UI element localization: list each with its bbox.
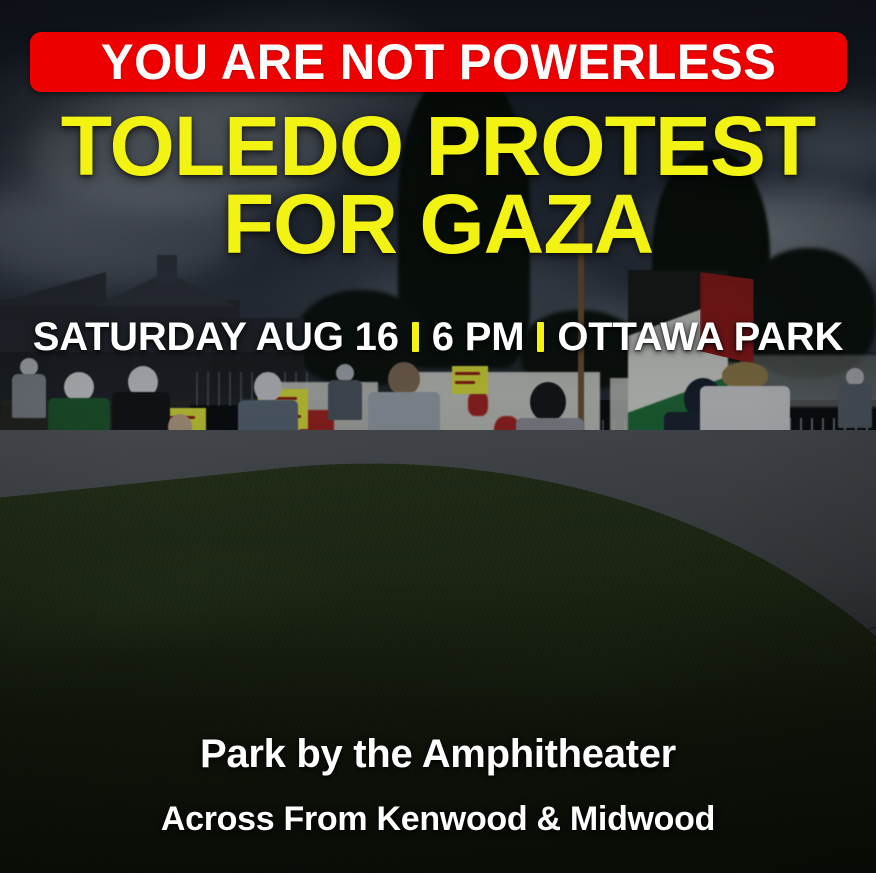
footer-details: Park by the Amphitheater Across From Ken… — [0, 733, 876, 838]
event-date: SATURDAY AUG 16 — [33, 317, 399, 357]
separator-bar-icon — [412, 322, 419, 352]
alert-banner: YOU ARE NOT POWERLESS — [30, 32, 847, 92]
page-title: TOLEDO PROTEST FOR GAZA — [0, 107, 876, 263]
event-details: SATURDAY AUG 16 6 PM OTTAWA PARK — [0, 317, 876, 357]
footer-line-2: Across From Kenwood & Midwood — [0, 802, 876, 838]
title-line-1: TOLEDO PROTEST — [0, 107, 876, 185]
title-line-2: FOR GAZA — [0, 185, 876, 263]
footer-line-1: Park by the Amphitheater — [0, 733, 876, 775]
protest-poster: CEA — [0, 0, 876, 873]
event-location: OTTAWA PARK — [557, 317, 843, 357]
text-overlay: YOU ARE NOT POWERLESS TOLEDO PROTEST FOR… — [0, 0, 876, 873]
alert-banner-text: YOU ARE NOT POWERLESS — [101, 37, 776, 87]
event-time: 6 PM — [432, 317, 525, 357]
separator-bar-icon — [537, 322, 544, 352]
